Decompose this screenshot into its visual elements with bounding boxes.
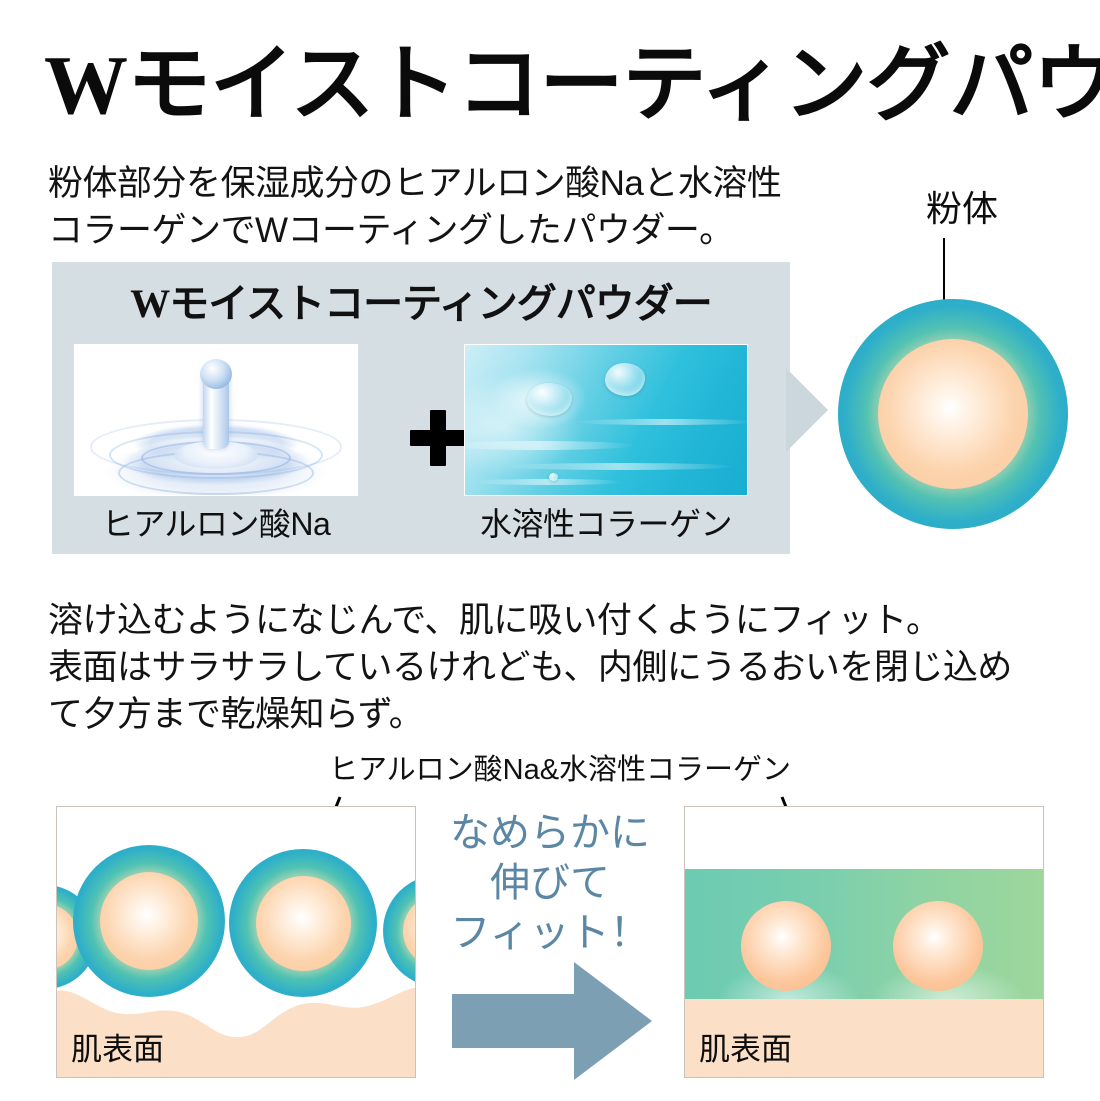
skin-label-after: 肌表面 [699, 1031, 792, 1069]
powder-particle-core [878, 339, 1028, 489]
particle-core [100, 872, 198, 970]
left-ingredient-caption: ヒアルロン酸Na [74, 504, 358, 544]
body-line-1: 溶け込むようになじんで、肌に吸い付くようにフィット。 [48, 597, 1058, 644]
water-streak-4 [473, 479, 623, 485]
ingredient-left: ヒアルロン酸Na [74, 344, 358, 544]
particle-label: 粉体 [862, 187, 1062, 231]
transition-line-1: なめらかに [432, 808, 668, 858]
coated-particle-2 [893, 901, 983, 991]
ingredient-panel: Wモイストコーティングパウダー ヒアルロン酸Na [52, 262, 790, 554]
bubble-3 [549, 473, 558, 481]
water-streak-2 [505, 463, 735, 470]
lead-paragraph: 粉体部分を保湿成分のヒアルロン酸Naと水溶性 コラーゲンでWコーティングしたパウ… [48, 160, 878, 254]
bubble-1 [527, 383, 572, 416]
underwater-bubbles-photo [464, 344, 748, 496]
right-ingredient-caption: 水溶性コラーゲン [464, 504, 748, 544]
powder-particle-sphere [838, 299, 1068, 529]
lead-line-2: コラーゲンでWコーティングしたパウダー。 [48, 207, 878, 254]
bubble-2 [605, 363, 645, 396]
diagram-after: 肌表面 [684, 806, 1044, 1078]
plus-icon [410, 410, 466, 466]
body-line-3: て夕方まで乾燥知らず。 [48, 691, 1058, 738]
transition-caption: なめらかに 伸びて フィット！ [432, 808, 668, 958]
skin-label-before: 肌表面 [71, 1031, 164, 1069]
infographic-page: Wモイストコーティングパウダー配合 粉体部分を保湿成分のヒアルロン酸Naと水溶性… [0, 0, 1100, 1101]
ingredient-right: 水溶性コラーゲン [464, 344, 748, 544]
page-title: Wモイストコーティングパウダー配合 [44, 37, 1064, 135]
panel-heading: Wモイストコーティングパウダー [52, 280, 790, 328]
arrow-right-icon [452, 962, 652, 1080]
body-line-2: 表面はサラサラしているけれども、内側にうるおいを閉じ込め [48, 644, 1058, 691]
water-streak-3 [575, 419, 748, 425]
coated-particle-1 [741, 901, 831, 991]
droplet-head [200, 359, 232, 389]
lead-line-1: 粉体部分を保湿成分のヒアルロン酸Naと水溶性 [48, 160, 878, 207]
water-droplet-photo [74, 344, 358, 496]
transition-line-3: フィット！ [432, 908, 668, 958]
diagram-before: 肌表面 [56, 806, 416, 1078]
body-paragraph: 溶け込むようになじんで、肌に吸い付くようにフィット。 表面はサラサラしているけれ… [48, 597, 1058, 738]
chevron-right-icon [786, 368, 828, 452]
transition-line-2: 伸びて [432, 858, 668, 908]
